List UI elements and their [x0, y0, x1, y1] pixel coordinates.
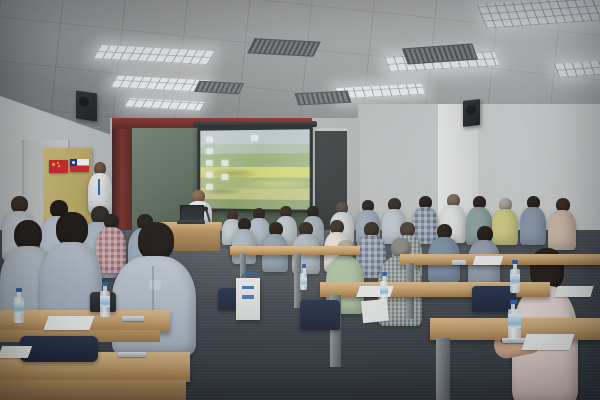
desktop-icon-4	[206, 172, 213, 178]
shirt-pocket	[149, 280, 161, 290]
water-bottle-1	[14, 288, 24, 318]
paper-sheet-3	[521, 334, 574, 350]
desktop-icon-8	[251, 135, 258, 141]
wall-speaker-right-icon	[463, 99, 480, 127]
classroom-photo: Classroom / seminar room with audience f…	[0, 0, 600, 400]
water-bottle-6	[300, 264, 307, 284]
desktop-icon-2	[206, 148, 213, 154]
desktop-icon-3	[206, 160, 213, 166]
paper-sheet-7	[361, 299, 389, 324]
flag-china-icon	[49, 160, 68, 173]
attendee-far-right	[548, 198, 576, 248]
water-bottle-3	[508, 300, 521, 336]
standing-person	[88, 162, 112, 212]
wall-speaker-left-icon	[76, 91, 97, 122]
desktop-icon-1	[206, 136, 213, 142]
ceiling-light-icon-7	[554, 60, 600, 78]
paper-sheet-6	[554, 286, 593, 297]
desk-nameplate-5	[452, 260, 466, 265]
paper-sheet-1	[43, 316, 94, 330]
chair-foreground[interactable]	[20, 336, 98, 362]
lanyard-icon	[98, 179, 100, 195]
desk-nameplate-2	[122, 316, 144, 321]
water-bottle-2	[100, 282, 110, 312]
paper-sheet-2	[0, 346, 32, 358]
desk-leg-e	[436, 338, 450, 400]
paper-sheet-4	[356, 286, 394, 297]
projection-screen	[197, 125, 312, 213]
projected-desktop-wallpaper	[200, 129, 309, 209]
desk-row-1-front-panel	[0, 380, 186, 400]
attendee-blue-back	[520, 196, 546, 244]
attendee-front-center-head	[138, 222, 174, 260]
attendee-far-right-torso	[548, 210, 576, 250]
air-vent-icon-2	[194, 81, 244, 94]
water-bottle-4	[510, 260, 520, 288]
attendee-front-left-head	[56, 212, 88, 246]
chair-mid-right[interactable]	[300, 300, 340, 330]
desktop-icon-6	[222, 160, 229, 166]
attendee-blue-back-torso	[520, 207, 546, 245]
attendee-blue-mid	[428, 224, 460, 282]
paper-sheet-5	[473, 256, 504, 265]
shopping-bag	[236, 278, 260, 320]
desk-nameplate-1	[118, 352, 146, 357]
flag-chile-icon	[70, 159, 89, 172]
desktop-icon-5	[206, 184, 213, 190]
desktop-icon-7	[222, 174, 229, 180]
water-bottle-5	[380, 272, 388, 296]
